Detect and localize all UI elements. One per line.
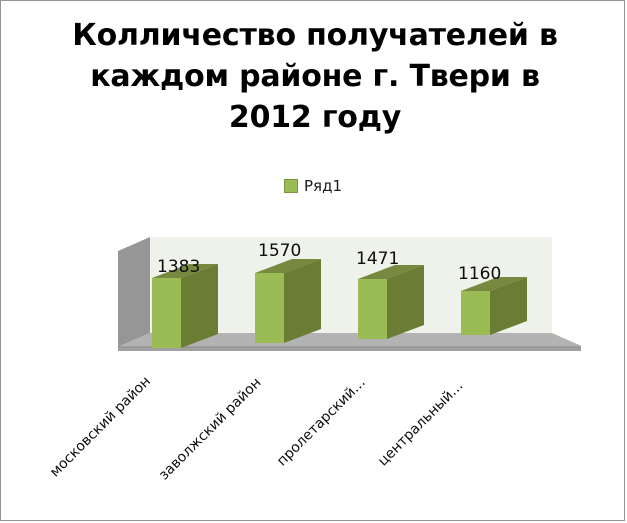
plot-svg (101, 226, 581, 376)
bar-3-front (358, 279, 387, 339)
chart-title-line-3: 2012 году (51, 97, 579, 138)
category-label-4: центральный… (375, 378, 467, 470)
chart-title-line-1: Колличество получателей в (51, 15, 579, 56)
data-label-1: 1383 (157, 257, 200, 277)
data-label-4: 1160 (458, 264, 501, 284)
chart-legend: Ряд1 (284, 177, 342, 195)
category-label-2: заволжский район (156, 375, 265, 484)
category-label-1: московский район (47, 373, 154, 480)
plot-area: 1383 1570 1471 1160 (101, 226, 581, 376)
legend-color-swatch (284, 179, 298, 193)
data-label-3: 1471 (356, 249, 399, 269)
bar-column-3[interactable] (358, 265, 424, 339)
data-label-2: 1570 (258, 241, 301, 261)
legend-series-label: Ряд1 (304, 177, 342, 195)
bar-2-side (284, 259, 321, 343)
chart-title: Колличество получателей в каждом районе … (51, 15, 579, 138)
chart-container: Колличество получателей в каждом районе … (0, 0, 625, 521)
category-label-3: пролетарский… (274, 374, 369, 469)
floor-front-edge (118, 347, 581, 351)
chart-title-line-2: каждом районе г. Твери в (51, 56, 579, 97)
bar-2-front (255, 273, 284, 343)
bar-1-front (152, 278, 181, 348)
left-side-wall (118, 237, 150, 347)
bar-column-2[interactable] (255, 259, 321, 343)
bar-4-front (461, 291, 490, 335)
